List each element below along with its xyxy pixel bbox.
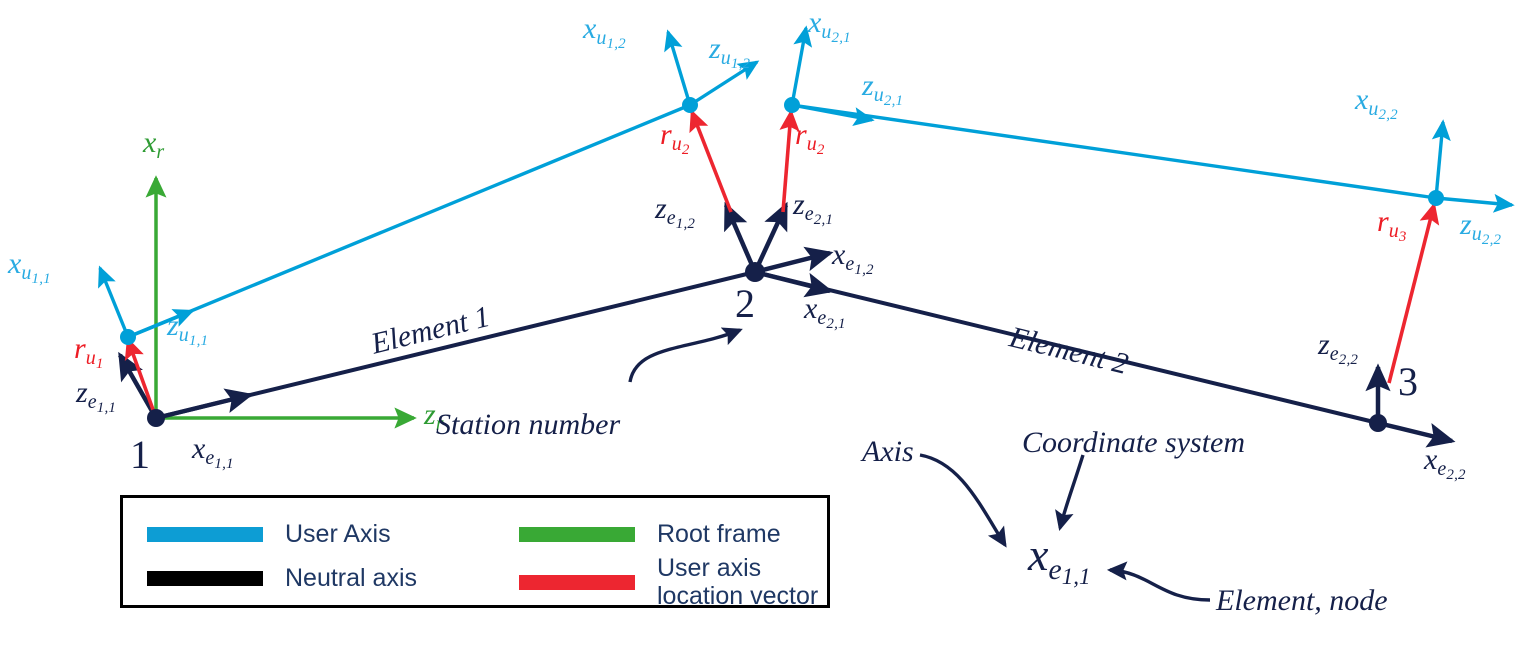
legend-swatch-root-frame [519,527,635,542]
user-node-marker-2-1 [784,97,800,113]
station-3-frames [1369,122,1512,441]
legend-swatch-user-axis-location-vector [519,575,635,590]
callout-element-node: Element, node [1216,586,1388,616]
axis-x-e-2-2 [1378,423,1452,441]
station-number-1: 1 [130,435,150,475]
axis-x-e-1-2 [755,253,830,272]
station-2-frames [668,28,872,291]
station-node-marker-2 [745,262,765,282]
legend-item-neutral-axis: Neutral axis [147,564,417,592]
legend-item-root-frame: Root frame [519,520,781,548]
axis-x-u-2-2 [1436,122,1443,198]
axis-z-u-2-1 [792,105,872,120]
callout-example-symbol: xe1,1 [1028,532,1091,588]
legend-label-user-axis-location-vector: User axis location vector [657,554,818,610]
axis-x-e-1-1 [156,395,250,418]
axis-z-u-2-2 [1436,198,1512,205]
legend-label-root-frame: Root frame [657,520,781,548]
axis-x-u-1-1 [100,268,128,337]
callout-axis: Axis [862,437,914,467]
leader-element-node [1110,570,1210,600]
axis-z-u-1-1 [128,311,192,337]
leader-axis [920,455,1005,545]
legend-swatch-neutral-axis [147,571,263,586]
callout-station-number: Station number [436,410,620,440]
diagram-canvas: xr zr ze1,1 xe1,1 ze1,2 xe1,2 ze2,1 xe2,… [0,0,1524,648]
root-frame-axes [156,178,414,418]
axis-z-e-1-2 [726,205,755,272]
legend-box: User Axis Neutral axis Root frame User a… [120,495,830,608]
legend-label-neutral-axis: Neutral axis [285,564,417,592]
user-axis-lines [128,105,1436,337]
leader-coordinate-system [1060,455,1083,528]
location-vector-r-u-2-right [783,112,791,212]
axis-x-u-2-1 [792,28,806,105]
user-node-marker-1-1 [120,329,136,345]
user-axis-line-element-1 [128,105,690,337]
location-vector-r-u-2-left [692,112,731,212]
user-axis-line-element-2 [792,105,1436,198]
callout-coordinate-system: Coordinate system [1022,428,1245,458]
station-number-3: 3 [1398,362,1418,402]
station-node-marker-1 [147,409,165,427]
legend-label-user-axis: User Axis [285,520,391,548]
axis-z-e-2-1 [755,205,786,272]
axis-z-u-1-2 [690,62,757,105]
location-vector-r-u-3 [1389,205,1434,383]
axis-x-e-2-1 [755,272,830,291]
leader-station-number [630,330,740,382]
station-1-frames [100,268,250,427]
user-node-marker-2-2 [1428,190,1444,206]
axis-x-u-1-2 [668,32,690,105]
legend-swatch-user-axis [147,527,263,542]
station-node-marker-3 [1369,414,1387,432]
legend-item-user-axis-location-vector: User axis location vector [519,554,818,610]
user-node-marker-1-2 [682,97,698,113]
neutral-axis-beams [156,272,1378,423]
station-number-2: 2 [735,284,755,324]
legend-item-user-axis: User Axis [147,520,391,548]
